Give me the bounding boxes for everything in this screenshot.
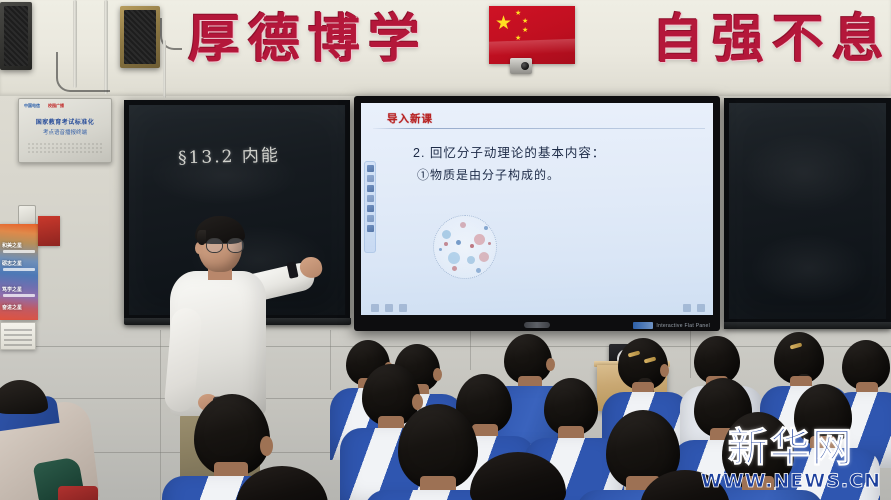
classroom-chair — [58, 486, 98, 500]
light-switch[interactable] — [18, 205, 36, 225]
slide-footer-left-controls[interactable] — [371, 304, 407, 312]
molecule-diagram-icon — [433, 215, 497, 279]
wall-poster-red — [38, 216, 60, 246]
speaker-grille — [124, 10, 156, 64]
poster-line: 砺志之星 — [2, 260, 22, 267]
wall-speaker-right — [120, 6, 160, 68]
blackboard-right — [724, 98, 891, 324]
speaker-grille — [4, 6, 28, 66]
terminal-logo-left: 中国电信 — [24, 103, 40, 108]
flag-glare — [489, 38, 575, 56]
blackboard-chalk-text: §13.2 内能 — [178, 141, 280, 169]
classroom-photo-scene: 厚德博学 自强不息 ★ ★ ★ ★ ★ 中国电信 校园广播 国家教育考试标准化 … — [0, 0, 891, 500]
ink-annotation-toolbar[interactable] — [364, 161, 376, 253]
security-camera-icon — [510, 58, 532, 74]
slide-body-line-1: 2. 回忆分子动理论的基本内容： — [413, 142, 605, 161]
terminal-speaker-holes — [27, 142, 103, 154]
slide-pen-icon[interactable] — [385, 304, 393, 312]
terminal-title: 国家教育考试标准化 — [19, 119, 111, 128]
slide-menu-icon[interactable] — [399, 304, 407, 312]
terminal-subtitle: 考点语音播报终端 — [19, 129, 111, 137]
wall-slogan-right: 自强不息 — [652, 8, 891, 72]
slide-next-icon[interactable] — [697, 304, 705, 312]
flag-star-small: ★ — [522, 27, 528, 34]
flag-star-large: ★ — [495, 14, 512, 33]
hanging-wire — [56, 52, 110, 92]
toolbar-shape-icon[interactable] — [367, 195, 374, 202]
wall-poster-honor-roll: 和美之星 砺志之星 笃学之星 奋进之星 — [0, 224, 38, 320]
campus-broadcast-terminal: 中国电信 校园广播 国家教育考试标准化 考点语音播报终端 — [18, 98, 112, 163]
glasses-lens-left — [206, 238, 223, 253]
toolbar-undo-icon[interactable] — [367, 215, 374, 222]
poster-line: 奋进之星 — [2, 304, 22, 311]
conduit-pipe — [163, 40, 166, 98]
slide-zoom-icon[interactable] — [683, 304, 691, 312]
poster-line: 和美之星 — [2, 242, 22, 249]
toolbar-eraser-icon[interactable] — [367, 175, 374, 182]
toolbar-more-icon[interactable] — [367, 225, 374, 232]
foreground-student-head — [0, 380, 48, 414]
toolbar-select-icon[interactable] — [367, 185, 374, 192]
whiteboard-screen[interactable]: 导入新课 2. 回忆分子动理论的基本内容： ①物质是由分子构成的。 — [361, 103, 713, 315]
chinese-national-flag-icon: ★ ★ ★ ★ ★ — [489, 6, 575, 64]
foreground-student-left — [0, 382, 114, 500]
flag-star-small: ★ — [515, 10, 521, 17]
student-audience — [0, 318, 891, 500]
terminal-logos: 中国电信 校园广播 — [24, 103, 64, 108]
terminal-logo-right: 校园广播 — [48, 103, 64, 108]
slide-prev-icon[interactable] — [371, 304, 379, 312]
interactive-whiteboard[interactable]: 导入新课 2. 回忆分子动理论的基本内容： ①物质是由分子构成的。 — [354, 96, 720, 331]
wall-speaker-left — [0, 2, 32, 70]
flag-star-small: ★ — [522, 18, 528, 25]
slide-header-rule — [373, 128, 705, 129]
slide-footer-right-controls[interactable] — [683, 304, 705, 312]
glasses-lens-right — [227, 238, 244, 253]
poster-line: 笃学之星 — [2, 286, 22, 293]
teacher-glasses-icon — [206, 238, 244, 251]
wall-slogan-left: 厚德博学 — [188, 8, 428, 72]
slide-body-line-2: ①物质是由分子构成的。 — [417, 166, 560, 183]
toolbar-highlight-icon[interactable] — [367, 205, 374, 212]
slide-section-header: 导入新课 — [387, 111, 433, 126]
toolbar-pen-icon[interactable] — [367, 165, 374, 172]
